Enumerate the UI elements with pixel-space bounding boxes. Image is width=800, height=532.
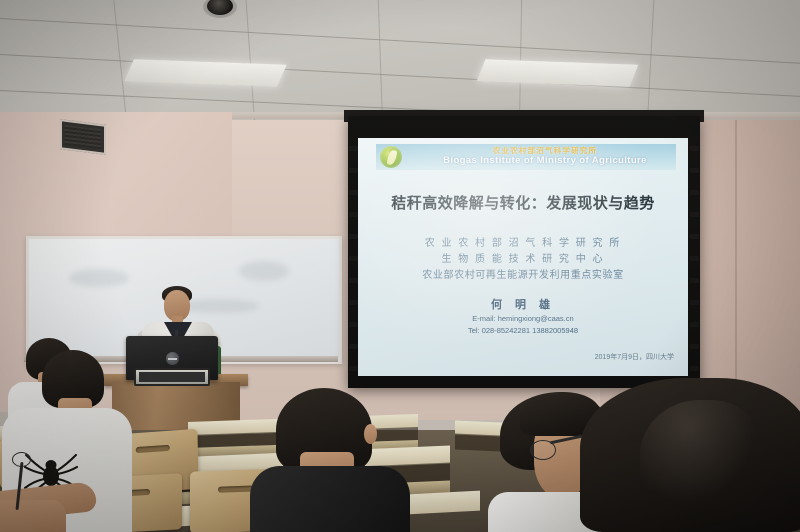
slide-org-line-1: 农 业 农 村 部 沼 气 科 学 研 究 所 (358, 234, 688, 249)
biogas-institute-logo-icon (380, 146, 402, 168)
student-black-tshirt (250, 466, 410, 532)
projection-screen: 农业农村部沼气科学研究所 Biogas Institute of Ministr… (348, 116, 700, 388)
wall-speaker (60, 119, 106, 155)
ceiling-light-panel-right (477, 59, 639, 86)
slide-telephone: Tel: 028-85242281 13882005948 (358, 326, 688, 335)
lecture-hall-photo: 农业农村部沼气科学研究所 Biogas Institute of Ministr… (0, 0, 800, 532)
dell-laptop-base (134, 368, 210, 386)
ceiling-light-panel-left (124, 59, 286, 86)
student-long-hair-highlight (640, 400, 760, 510)
slide-email: E-mail: hemingxiong@caas.cn (358, 314, 688, 323)
slide-org-line-2: 生 物 质 能 技 术 研 究 中 心 (358, 250, 688, 265)
slide-presenter-name: 何 明 雄 (358, 296, 688, 312)
slide-date-venue: 2019年7月9日，四川大学 (595, 352, 674, 362)
projected-slide: 农业农村部沼气科学研究所 Biogas Institute of Ministr… (358, 138, 688, 376)
slide-title: 秸秆高效降解与转化：发展现状与趋势 (358, 192, 688, 213)
ceiling (0, 0, 800, 128)
slide-banner-english: Biogas Institute of Ministry of Agricult… (416, 155, 674, 166)
slide-banner: 农业农村部沼气科学研究所 Biogas Institute of Ministr… (376, 144, 676, 170)
dell-logo-icon (166, 352, 179, 365)
slide-org-line-3: 农业部农村可再生能源开发利用重点实验室 (358, 266, 688, 281)
wall-seam (735, 120, 737, 420)
student-black-tshirt-ear (364, 424, 377, 444)
student-forearm (0, 500, 66, 532)
